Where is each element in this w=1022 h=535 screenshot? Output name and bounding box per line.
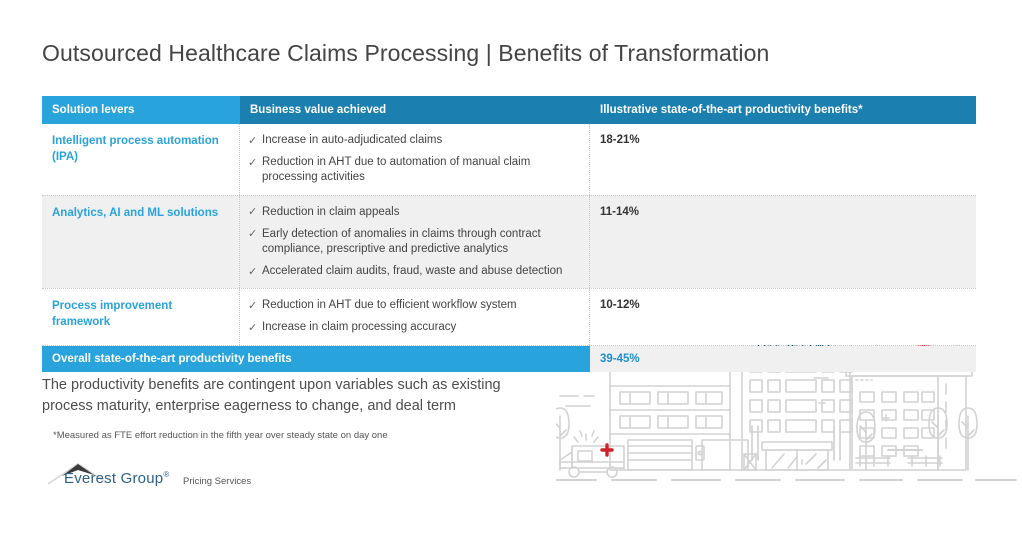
list-item-label: Reduction in AHT due to efficient workfl… [262,298,577,313]
table-row: Analytics, AI and ML solutions ✓ Reducti… [42,195,976,289]
ambulance-icon [560,431,624,477]
lattice-mast [744,454,756,470]
right-windows [860,392,934,456]
logo-service: Pricing Services [183,476,251,487]
list-item: ✓ Reduction in claim appeals [248,205,577,220]
check-icon: ✓ [248,320,262,335]
column-header-business-value: Business value achieved [240,96,590,124]
list-item: ✓ Increase in auto-adjudicated claims [248,133,577,148]
column-header-benefits: Illustrative state-of-the-art productivi… [590,96,976,124]
benefit-value: 10-12% [590,289,976,344]
red-cross-icon [602,445,612,455]
check-icon: ✓ [248,298,262,313]
check-icon: ✓ [248,133,262,148]
table-header-row: Solution levers Business value achieved … [42,96,976,124]
left-building [606,360,748,470]
tree-icon [959,408,977,470]
list-item-label: Accelerated claim audits, fraud, waste a… [262,264,577,279]
list-item: ✓ Reduction in AHT due to automation of … [248,155,577,185]
summary-label: Overall state-of-the-art productivity be… [42,346,590,372]
lever-name: Process improvement framework [42,289,240,344]
right-building [846,364,972,470]
list-item-label: Reduction in claim appeals [262,205,577,220]
tower-entrance [762,442,832,470]
business-value-list: ✓ Reduction in AHT due to efficient work… [240,289,590,344]
table-row: Intelligent process automation (IPA) ✓ I… [42,124,976,195]
column-header-levers: Solution levers [42,96,240,124]
benefit-value: 18-21% [590,124,976,195]
business-value-list: ✓ Reduction in claim appeals ✓ Early det… [240,196,590,289]
logo-brand: Everest Group® [64,470,169,487]
list-item: ✓ Increase in claim processing accuracy [248,320,577,335]
list-item-label: Reduction in AHT due to automation of ma… [262,155,577,185]
tree-icon [556,408,569,470]
table-row: Process improvement framework ✓ Reductio… [42,288,976,344]
list-item: ✓ Accelerated claim audits, fraud, waste… [248,264,577,279]
benefit-value: 11-14% [590,196,976,289]
check-icon: ✓ [248,155,262,185]
page-title: Outsourced Healthcare Claims Processing … [42,40,769,67]
business-value-list: ✓ Increase in auto-adjudicated claims ✓ … [240,124,590,195]
summary-value: 39-45% [590,346,976,372]
tree-icon [857,412,875,470]
check-icon: ✓ [248,264,262,279]
slide: Outsourced Healthcare Claims Processing … [0,0,1022,535]
footnote-text: *Measured as FTE effort reduction in the… [53,430,388,441]
lever-name: Intelligent process automation (IPA) [42,124,240,195]
list-item-label: Increase in auto-adjudicated claims [262,133,577,148]
list-item-label: Increase in claim processing accuracy [262,320,577,335]
list-item: ✓ Reduction in AHT due to efficient work… [248,298,577,313]
note-text: The productivity benefits are contingent… [42,375,542,417]
benefits-table: Solution levers Business value achieved … [42,96,976,372]
lever-name: Analytics, AI and ML solutions [42,196,240,289]
table-body: Intelligent process automation (IPA) ✓ I… [42,124,976,346]
everest-group-logo: Everest Group® Pricing Services [48,462,100,488]
tree-icon [929,408,947,470]
check-icon: ✓ [248,227,262,257]
list-item-label: Early detection of anomalies in claims t… [262,227,577,257]
check-icon: ✓ [248,205,262,220]
list-item: ✓ Early detection of anomalies in claims… [248,227,577,257]
summary-row: Overall state-of-the-art productivity be… [42,346,976,372]
